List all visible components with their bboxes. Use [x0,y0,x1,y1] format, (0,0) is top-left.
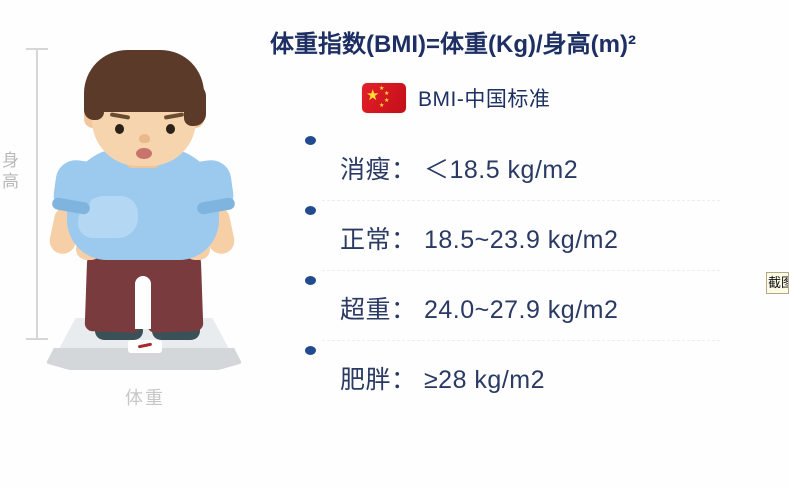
bmi-category-list: 消瘦： ＜18.5 kg/m2 正常： 18.5~23.9 kg/m2 超重： … [262,128,789,408]
bullet-icon [305,136,316,145]
slide-canvas: 身高 [0,0,789,487]
height-dimension-line [36,48,38,340]
height-dimension-cap-bottom [26,338,48,340]
standard-label: BMI-中国标准 [418,83,550,113]
eye-right [166,124,175,134]
nose [139,134,150,143]
bullet-icon [305,206,316,215]
bmi-category-overweight: 超重： 24.0~27.9 kg/m2 [340,290,618,326]
hair-sideburn-right [184,84,206,126]
flag-star-4: ★ [379,103,384,109]
bmi-category-underweight: 消瘦： ＜18.5 kg/m2 [340,150,578,186]
china-flag-icon: ★ ★ ★ ★ ★ [362,83,406,113]
flag-star-3: ★ [384,98,389,104]
mouth [136,148,152,159]
row-divider [322,200,720,201]
bmi-category-obese: 肥胖： ≥28 kg/m2 [340,360,545,396]
list-item: 消瘦： ＜18.5 kg/m2 [262,128,789,198]
height-label: 身高 [0,150,24,192]
list-item: 正常： 18.5~23.9 kg/m2 [262,198,789,268]
bmi-category-normal: 正常： 18.5~23.9 kg/m2 [340,220,618,256]
bullet-icon [305,346,316,355]
row-divider [322,270,720,271]
flag-star-2: ★ [384,91,389,97]
bmi-content-panel: 体重指数(BMI)=体重(Kg)/身高(m)² ★ ★ ★ ★ ★ BMI-中国… [262,0,789,487]
flag-star-large: ★ [366,88,379,103]
row-divider [322,340,720,341]
bmi-illustration: 身高 [0,0,272,440]
weight-label: 体重 [110,384,180,410]
list-item: 肥胖： ≥28 kg/m2 [262,338,789,408]
list-item: 超重： 24.0~27.9 kg/m2 [262,268,789,338]
hair-sideburn-left [84,86,104,120]
capture-tool-button[interactable]: 截图 [766,272,789,294]
standard-heading: ★ ★ ★ ★ ★ BMI-中国标准 [362,83,550,113]
bullet-icon [305,276,316,285]
eye-left [115,124,124,134]
page-title: 体重指数(BMI)=体重(Kg)/身高(m)² [270,24,789,59]
